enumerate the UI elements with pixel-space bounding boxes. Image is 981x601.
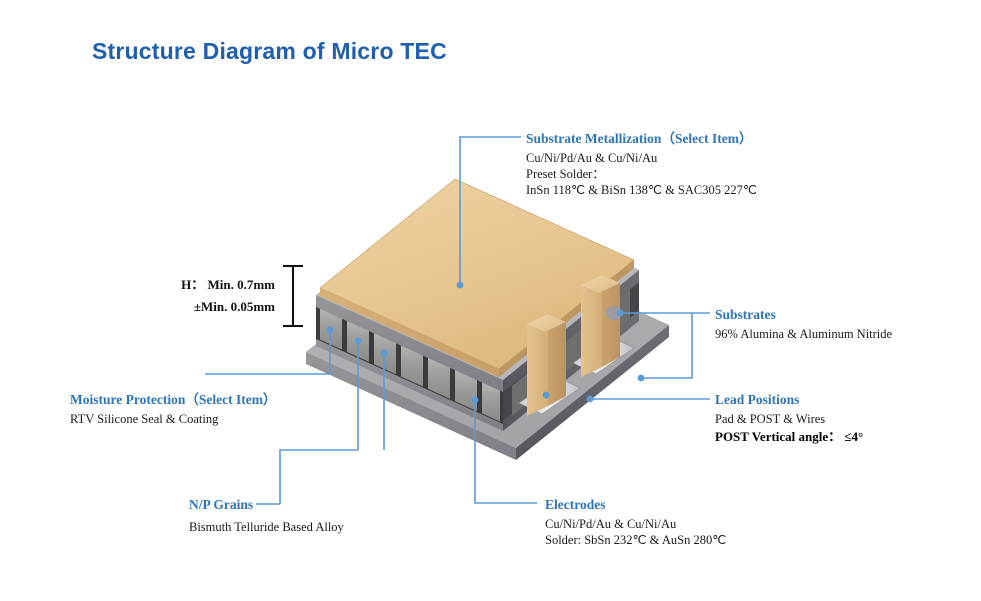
moisture-protection-body: RTV Silicone Seal & Coating (70, 411, 276, 427)
moisture-protection-note: （Select Item） (185, 392, 276, 407)
moisture-protection-line-1: RTV Silicone Seal & Coating (70, 411, 276, 427)
electrodes-line-1: Cu/Ni/Pd/Au & Cu/Ni/Au (545, 516, 726, 532)
annotation-lead-positions: Lead Positions Pad & POST & Wires POST V… (715, 391, 863, 447)
leader-lead-positions (587, 396, 710, 403)
substrate-metallization-body: Cu/Ni/Pd/Au & Cu/Ni/Au Preset Solder： In… (526, 150, 757, 198)
height-dimension-label: H： Min. 0.7mm ±Min. 0.05mm (150, 274, 275, 318)
electrodes-body: Cu/Ni/Pd/Au & Cu/Ni/Au Solder: SbSn 232℃… (545, 516, 726, 548)
substrate-metallization-heading: Substrate Metallization（Select Item） (526, 130, 757, 147)
moisture-protection-heading-text: Moisture Protection (70, 392, 185, 407)
height-line-2: ±Min. 0.05mm (150, 296, 275, 318)
height-line-1: H： Min. 0.7mm (150, 274, 275, 296)
annotation-electrodes: Electrodes Cu/Ni/Pd/Au & Cu/Ni/Au Solder… (545, 496, 726, 548)
height-dimension-bar (283, 266, 303, 326)
np-grains-body: Bismuth Telluride Based Alloy (189, 519, 344, 535)
lead-positions-line-1: Pad & POST & Wires (715, 411, 863, 427)
annotation-substrate-metallization: Substrate Metallization（Select Item） Cu/… (526, 130, 757, 198)
sm-line-2: Preset Solder： (526, 166, 757, 182)
lead-positions-line-2: POST Vertical angle： ≤4° (715, 427, 863, 447)
annotation-np-grains: N/P Grains Bismuth Telluride Based Alloy (189, 496, 344, 535)
annotation-substrates: Substrates 96% Alumina & Aluminum Nitrid… (715, 306, 892, 342)
sm-line-3: InSn 118℃ & BiSn 138℃ & SAC305 227℃ (526, 182, 757, 198)
substrates-heading: Substrates (715, 306, 892, 323)
electrodes-heading: Electrodes (545, 496, 726, 513)
annotation-moisture-protection: Moisture Protection（Select Item） RTV Sil… (70, 391, 276, 427)
lead-positions-heading: Lead Positions (715, 391, 863, 408)
sm-line-1: Cu/Ni/Pd/Au & Cu/Ni/Au (526, 150, 757, 166)
diagram-page: Structure Diagram of Micro TEC (0, 0, 981, 601)
np-grains-heading: N/P Grains (189, 496, 344, 513)
substrate-metallization-note: （Select Item） (661, 131, 752, 146)
substrates-line-1: 96% Alumina & Aluminum Nitride (715, 326, 892, 342)
substrate-metallization-heading-text: Substrate Metallization (526, 131, 661, 146)
moisture-protection-heading: Moisture Protection（Select Item） (70, 391, 276, 408)
substrates-body: 96% Alumina & Aluminum Nitride (715, 326, 892, 342)
lead-positions-body: Pad & POST & Wires POST Vertical angle： … (715, 411, 863, 447)
electrodes-line-2: Solder: SbSn 232℃ & AuSn 280℃ (545, 532, 726, 548)
micro-tec-diagram-svg (0, 0, 981, 601)
np-grains-line-1: Bismuth Telluride Based Alloy (189, 519, 344, 535)
